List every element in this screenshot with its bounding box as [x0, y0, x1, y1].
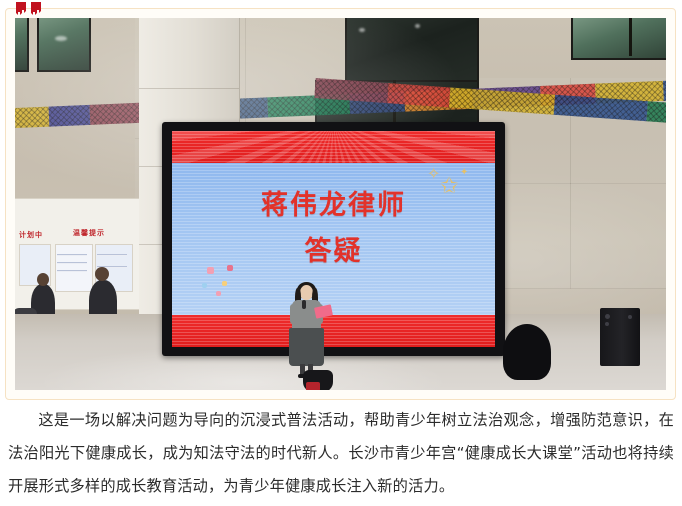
confetti-dot	[216, 291, 221, 296]
presenter-arm	[290, 304, 297, 324]
pa-speaker	[600, 308, 640, 366]
notice-board-headline: 计划中	[19, 230, 43, 240]
backpack-accent	[306, 382, 320, 390]
confetti-dot	[202, 283, 207, 288]
led-screen: 蒋伟龙律师 答疑 ✧ ✩ ✦	[172, 131, 495, 347]
confetti-dot	[227, 265, 233, 271]
seated-person-head	[95, 267, 109, 281]
article-body: 这是一场以解决问题为导向的沉浸式普法活动，帮助青少年树立法治观念，增强防范意识，…	[8, 404, 674, 503]
double-quote-icon	[16, 2, 44, 18]
sparkle-doodle-icon: ✦	[460, 167, 468, 178]
confetti-dot	[222, 281, 227, 286]
article-paragraph: 这是一场以解决问题为导向的沉浸式普法活动，帮助青少年树立法治观念，增强防范意识，…	[8, 404, 674, 503]
seated-person-head	[37, 273, 49, 286]
pa-speaker-on-stand	[503, 324, 551, 380]
presenter-skirt	[289, 328, 324, 366]
led-screen-bezel: 蒋伟龙律师 答疑 ✧ ✩ ✦	[162, 122, 505, 356]
notice-poster	[55, 244, 93, 292]
photo-frame: 计划中 温馨提示	[5, 8, 676, 400]
star-doodle-icon: ✧	[427, 164, 440, 184]
swirl-doodle-icon: ✩	[440, 173, 458, 199]
notice-board-headline: 温馨提示	[73, 228, 105, 238]
law-lecture-hall-photo: 计划中 温馨提示	[15, 18, 666, 390]
led-screen-subtitle: 答疑	[172, 229, 495, 268]
confetti-dot	[207, 267, 214, 274]
microphone-icon	[302, 300, 306, 309]
